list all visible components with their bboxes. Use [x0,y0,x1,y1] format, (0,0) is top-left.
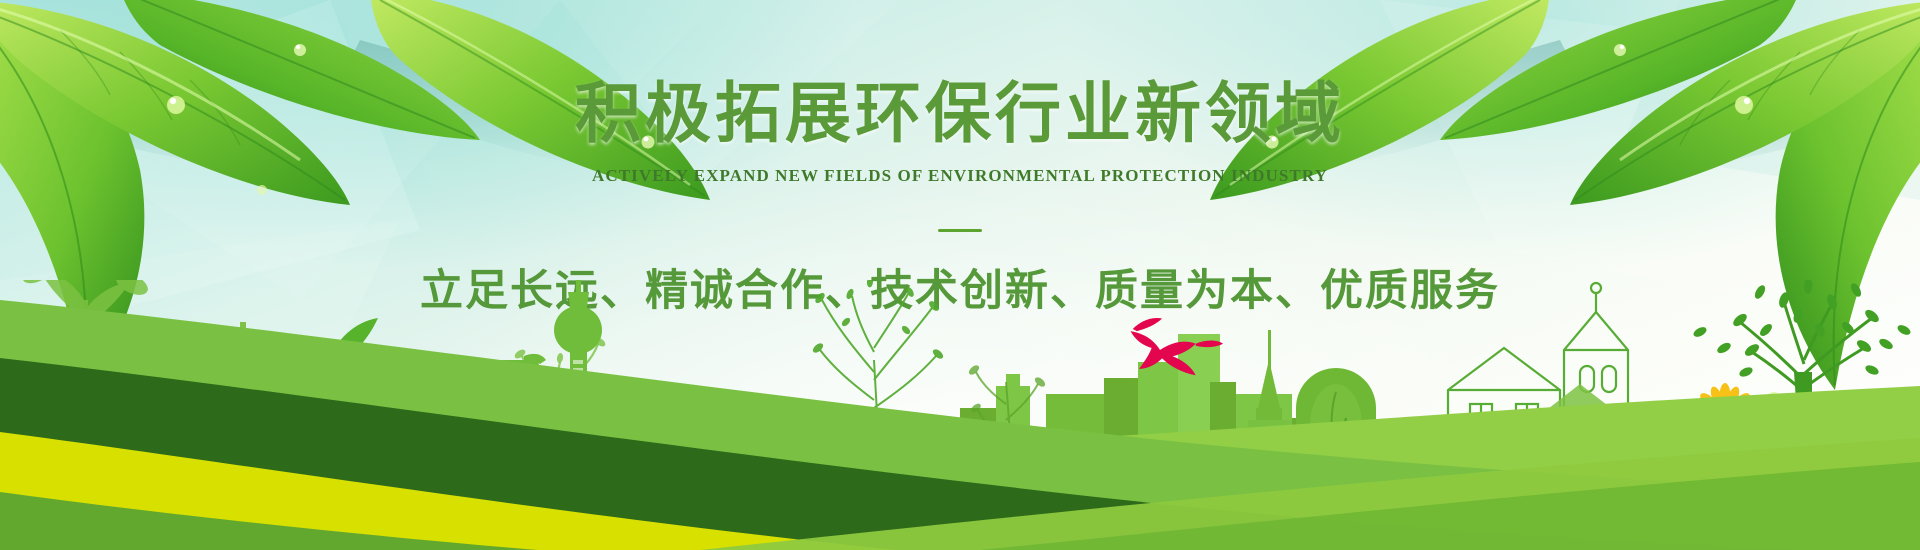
green-ribbon-bands [0,0,1920,550]
eco-banner: 积极拓展环保行业新领域 ACTIVELY EXPAND NEW FIELDS O… [0,0,1920,550]
